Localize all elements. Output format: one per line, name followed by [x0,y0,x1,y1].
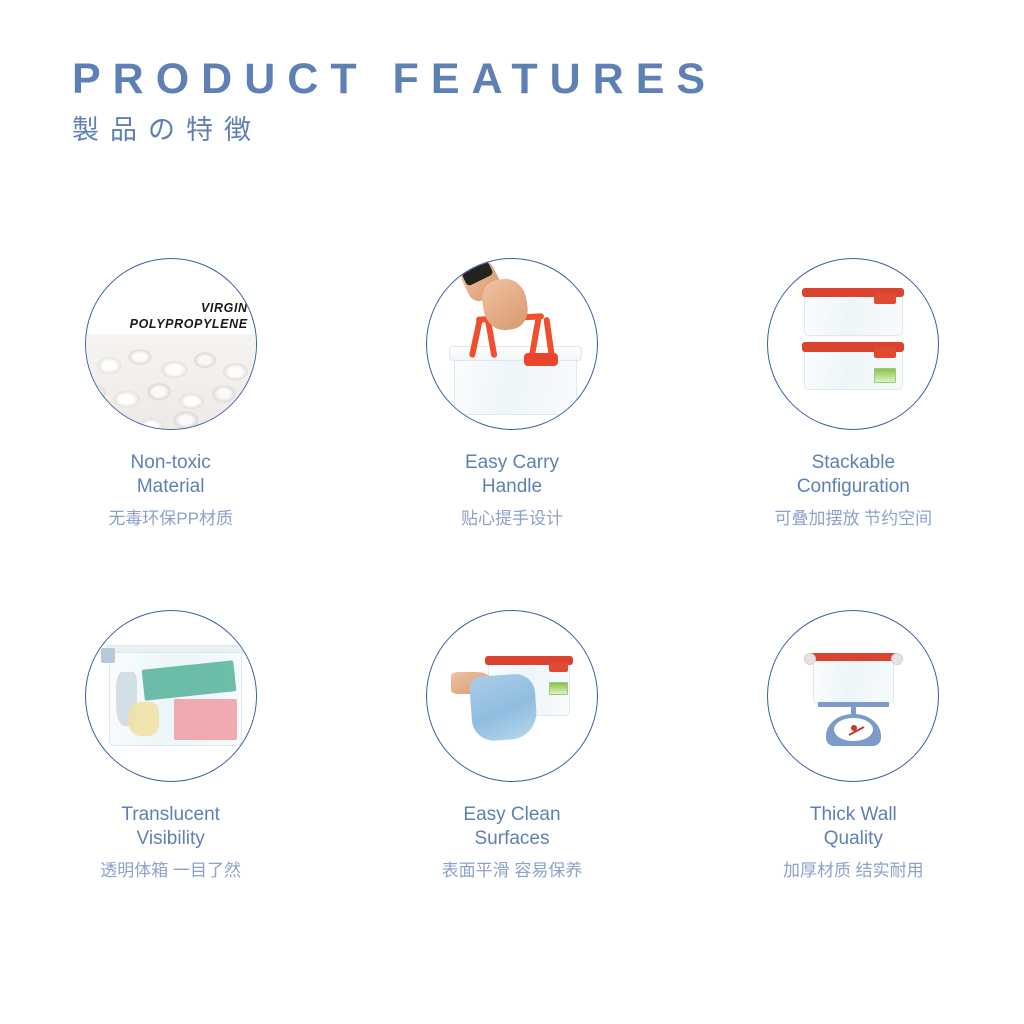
feature-image-plastic-pellets: VIRGIN POLYPROPYLENE [85,258,257,430]
feature-easy-carry-handle: Easy Carry Handle 贴心提手设计 [341,258,682,530]
box-lid-shape [106,645,245,654]
feature-image-translucent-box [85,610,257,782]
feature-title-cn: 透明体箱 一目了然 [100,860,241,881]
content-item-pink [174,699,237,740]
feature-title-en: Translucent Visibility [121,803,220,851]
carry-handle-illustration [427,259,597,429]
feature-title-en: Non-toxic Material [131,451,211,499]
feature-title-en: Stackable Configuration [797,451,910,499]
box-red-rim [809,653,897,661]
feature-thick-wall-quality: Thick Wall Quality 加厚材质 结实耐用 [683,610,1024,882]
feature-image-stacked-boxes [767,258,939,430]
pellet-pile-shape [85,334,257,430]
product-sticker [874,368,896,383]
feature-title-en: Thick Wall Quality [810,803,897,851]
lower-box-clip [874,347,896,358]
content-item-cream [128,702,159,736]
box-body-shape [454,358,576,416]
feature-title-cn: 贴心提手设计 [461,508,563,529]
feature-image-box-on-scale [767,610,939,782]
handle-grip-shape [524,353,558,367]
translucent-box-illustration [86,611,256,781]
scale-needle-pivot [851,725,857,731]
page-subtitle-japanese: 製品の特徴 [72,117,717,144]
cleaning-cloth-shape [469,673,538,742]
box-body-shape [813,658,895,704]
page-header: PRODUCT FEATURES 製品の特徴 [72,58,717,144]
feature-easy-clean-surfaces: Easy Clean Surfaces 表面平滑 容易保养 [341,610,682,882]
wiping-illustration [427,611,597,781]
features-grid: VIRGIN POLYPROPYLENE Non-toxic Material … [0,258,1024,881]
feature-title-en: Easy Clean Surfaces [463,803,560,851]
upper-box-clip [874,293,896,304]
feature-title-cn: 无毒环保PP材质 [108,508,233,529]
weighing-scale-illustration [768,611,938,781]
stacked-boxes-illustration [768,259,938,429]
box-clip [549,662,568,672]
box-side-knob [804,653,816,665]
virgin-polypropylene-label: VIRGIN POLYPROPYLENE [130,301,248,332]
feature-stackable-configuration: Stackable Configuration 可叠加摆放 节约空间 [683,258,1024,530]
feature-non-toxic-material: VIRGIN POLYPROPYLENE Non-toxic Material … [0,258,341,530]
feature-title-en: Easy Carry Handle [465,451,559,499]
box-side-knob [891,653,903,665]
feature-image-hand-carrying-box [426,258,598,430]
box-side-handle [101,648,115,663]
page-title: PRODUCT FEATURES [72,58,717,101]
feature-title-cn: 表面平滑 容易保养 [442,860,583,881]
feature-title-cn: 加厚材质 结实耐用 [783,860,924,881]
feature-image-hand-wiping-box [426,610,598,782]
pellets-illustration: VIRGIN POLYPROPYLENE [86,259,256,429]
feature-translucent-visibility: Translucent Visibility 透明体箱 一目了然 [0,610,341,882]
product-sticker [549,682,568,696]
feature-title-cn: 可叠加摆放 节约空间 [774,508,932,529]
